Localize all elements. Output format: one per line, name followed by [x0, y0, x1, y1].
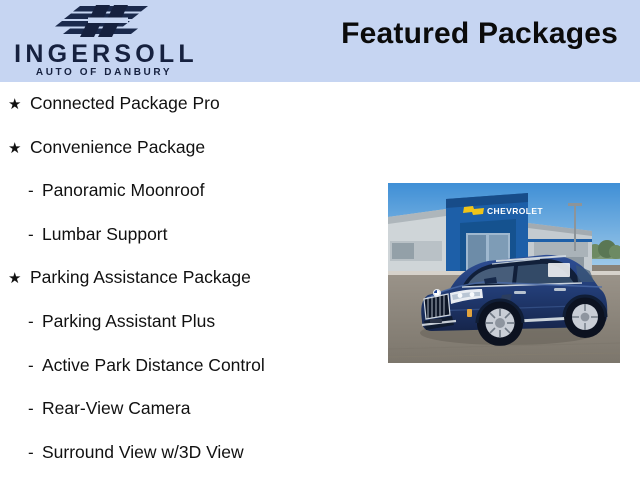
list-item-label: Parking Assistant Plus [42, 300, 215, 344]
list-item-label: Active Park Distance Control [42, 344, 265, 388]
list-item: -Surround View w/3D View [0, 431, 380, 475]
list-item-label: Surround View w/3D View [42, 431, 244, 475]
svg-text:CHEVROLET: CHEVROLET [487, 206, 543, 216]
ingersoll-wings-emblem-icon [44, 3, 160, 39]
star-bullet-icon: ★ [8, 83, 30, 127]
list-item: -Lumbar Support [0, 213, 380, 257]
list-item: -Rear-View Camera [0, 387, 380, 431]
list-item-label: Panoramic Moonroof [42, 169, 204, 213]
list-item: -Active Park Distance Control [0, 344, 380, 388]
list-item: ★Parking Assistance Package [0, 256, 380, 300]
brand-name: INGERSOLL [0, 42, 212, 67]
list-item: ★Convenience Package [0, 126, 380, 170]
dash-bullet-icon: - [28, 387, 40, 431]
list-item-label: Parking Assistance Package [30, 256, 251, 300]
dealer-logo: INGERSOLL AUTO OF DANBURY [0, 0, 212, 82]
dash-bullet-icon: - [28, 300, 40, 344]
vehicle-photo: CHEVROLET [388, 183, 620, 363]
slide-root: INGERSOLL AUTO OF DANBURY Featured Packa… [0, 0, 640, 480]
dash-bullet-icon: - [28, 169, 40, 213]
star-bullet-icon: ★ [8, 257, 30, 301]
featured-packages-list: ★Connected Package Pro★Convenience Packa… [0, 82, 380, 474]
list-item-label: Lumbar Support [42, 213, 168, 257]
list-item-label: Convenience Package [30, 126, 205, 170]
page-title: Featured Packages [341, 17, 618, 51]
brand-subtitle: AUTO OF DANBURY [0, 68, 208, 78]
list-item: -Parking Assistant Plus [0, 300, 380, 344]
list-item: -Panoramic Moonroof [0, 169, 380, 213]
header-band: INGERSOLL AUTO OF DANBURY Featured Packa… [0, 0, 640, 82]
dash-bullet-icon: - [28, 431, 40, 475]
dash-bullet-icon: - [28, 344, 40, 388]
list-item: ★Connected Package Pro [0, 82, 380, 126]
dash-bullet-icon: - [28, 213, 40, 257]
list-item-label: Rear-View Camera [42, 387, 190, 431]
list-item-label: Connected Package Pro [30, 82, 220, 126]
star-bullet-icon: ★ [8, 127, 30, 171]
